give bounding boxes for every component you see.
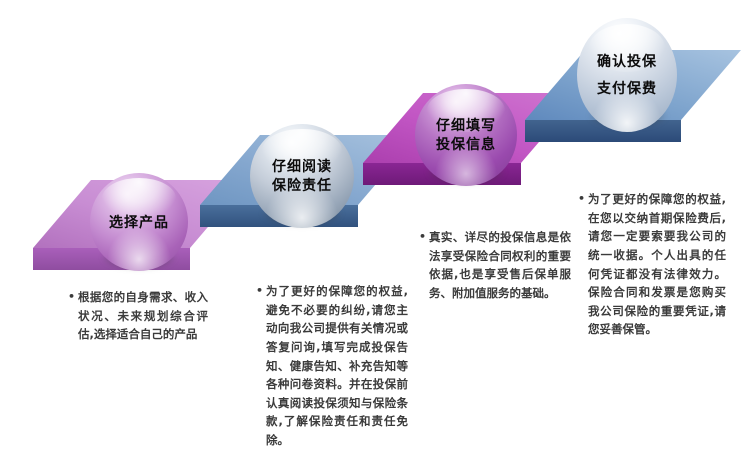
step-4-orb-label-line2: 支付保费 (597, 75, 657, 102)
step-2-orb-label: 仔细阅读 保险责任 (272, 157, 332, 195)
step-4-description: • 为了更好的保障您的权益,在您以交纳首期保险费后,请您一定要索要我公司的统一收… (578, 190, 726, 339)
step-1-description-text: 根据您的自身需求、收入状况、未来规划综合评估,选择适合自己的产品 (78, 288, 208, 344)
step-3-orb-label: 仔细填写 投保信息 (436, 116, 496, 154)
step-2-orb-label-line2: 保险责任 (272, 176, 332, 195)
step-4-orb[interactable]: 确认投保 支付保费 (577, 18, 677, 132)
step-4-description-text: 为了更好的保障您的权益,在您以交纳首期保险费后,请您一定要索要我公司的统一收据。… (588, 190, 726, 339)
step-1-orb[interactable]: 选择产品 (90, 173, 188, 271)
step-3-bullet-icon: • (419, 228, 429, 303)
step-2-bullet-icon: • (256, 282, 266, 450)
step-3-description-text: 真实、详尽的投保信息是依法享受保险合同权利的重要依据,也是享受售后保单服务、附加… (429, 228, 571, 303)
step-1-description: • 根据您的自身需求、收入状况、未来规划综合评估,选择适合自己的产品 (68, 288, 208, 344)
step-1-orb-label-line1: 选择产品 (109, 213, 169, 232)
process-diagram: 选择产品 • 根据您的自身需求、收入状况、未来规划综合评估,选择适合自己的产品 (0, 0, 741, 445)
step-3-description: • 真实、详尽的投保信息是依法享受保险合同权利的重要依据,也是享受售后保单服务、… (419, 228, 571, 303)
step-1-bullet-icon: • (68, 288, 78, 344)
step-4-orb-label: 确认投保 支付保费 (597, 48, 657, 101)
step-3-orb[interactable]: 仔细填写 投保信息 (415, 84, 517, 186)
step-2-description-text: 为了更好的保障您的权益,避免不必要的纠纷,请您主动向我公司提供有关情况或答复问询… (266, 282, 408, 450)
step-1-orb-label: 选择产品 (109, 213, 169, 232)
step-3-orb-label-line1: 仔细填写 (436, 116, 496, 135)
step-2-orb-label-line1: 仔细阅读 (272, 157, 332, 176)
step-2-description: • 为了更好的保障您的权益,避免不必要的纠纷,请您主动向我公司提供有关情况或答复… (256, 282, 408, 450)
step-3-orb-label-line2: 投保信息 (436, 135, 496, 154)
step-2-orb[interactable]: 仔细阅读 保险责任 (250, 124, 354, 228)
step-4-orb-label-line1: 确认投保 (597, 48, 657, 75)
step-4-bullet-icon: • (578, 190, 588, 339)
